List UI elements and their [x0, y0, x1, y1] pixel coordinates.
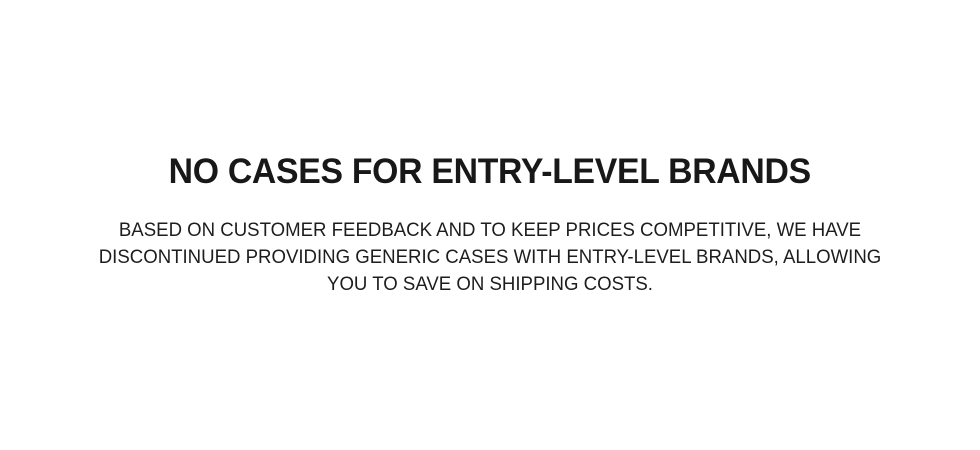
announcement-body-text: BASED ON CUSTOMER FEEDBACK AND TO KEEP P… [98, 217, 882, 298]
announcement-content: NO CASES FOR ENTRY-LEVEL BRANDS BASED ON… [80, 152, 900, 298]
announcement-section: NO CASES FOR ENTRY-LEVEL BRANDS BASED ON… [0, 0, 980, 450]
announcement-headline: NO CASES FOR ENTRY-LEVEL BRANDS [169, 152, 811, 192]
